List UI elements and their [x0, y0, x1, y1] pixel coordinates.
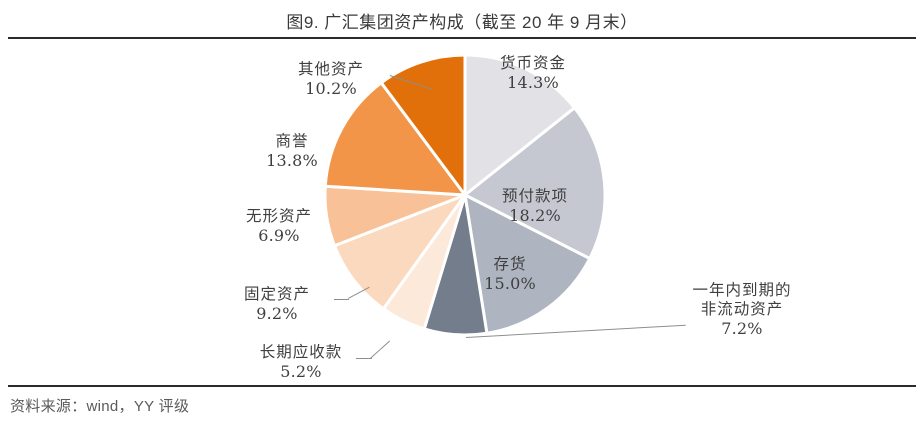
- source-note: 资料来源：wind，YY 评级: [10, 395, 189, 416]
- leader-line-changqiyingshoukuan-stub: [356, 358, 372, 359]
- leader-line-gudingzichan-stub: [334, 299, 349, 300]
- pie-label-changqiyingshoukuan: 长期应收款 5.2%: [236, 343, 366, 381]
- title-divider-top: [8, 37, 916, 39]
- pie-label-yiniannei-value: 7.2%: [690, 319, 794, 339]
- leader-line-changqiyingshoukuan: [370, 341, 390, 359]
- pie-chart-plot-area: 货币资金 14.3% 预付款项 18.2% 存货 15.0% 一年内到期的非流动…: [0, 40, 924, 385]
- pie-label-yiniannei-name: 一年内到期的非流动资产: [690, 281, 794, 319]
- pie-label-changqiyingshoukuan-value: 5.2%: [236, 362, 366, 382]
- source-divider-bottom: [8, 385, 916, 387]
- pie-chart: [320, 50, 610, 340]
- pie-label-yiniannei: 一年内到期的非流动资产 7.2%: [690, 281, 794, 338]
- pie-label-changqiyingshoukuan-name: 长期应收款: [236, 343, 366, 362]
- chart-title: 图9. 广汇集团资产构成（截至 20 年 9 月末）: [0, 8, 924, 33]
- figure-container: 图9. 广汇集团资产构成（截至 20 年 9 月末） 货币资金 14.3%: [0, 0, 924, 428]
